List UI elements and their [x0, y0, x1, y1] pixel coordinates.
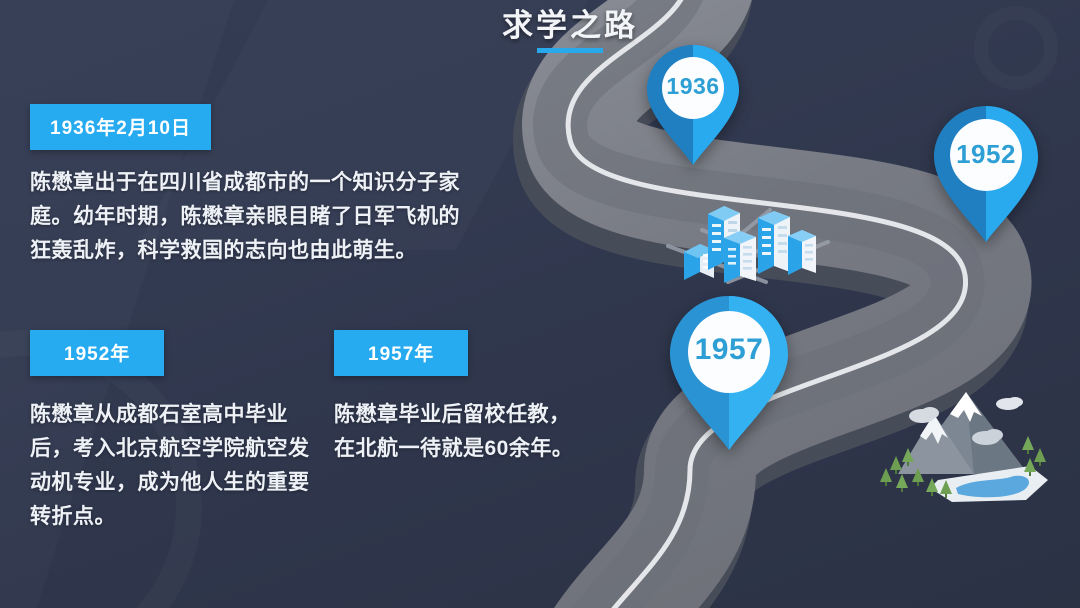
- panel-1936-text: 陈懋章出于在四川省成都市的一个知识分子家庭。幼年时期，陈懋章亲眼目睹了日军飞机的…: [30, 166, 470, 268]
- city-building: [758, 211, 790, 274]
- panel-1952-text: 陈懋章从成都石室高中毕业后，考入北京航空学院航空发动机专业，成为他人生的重要转折…: [30, 398, 320, 534]
- map-pin-year-label: 1957: [668, 333, 790, 367]
- slide-canvas: 求学之路 1936年2月10日 陈懋章出于在四川省成都市的一个知识分子家庭。幼年…: [0, 0, 1080, 608]
- map-pin-1957[interactable]: 1957: [668, 294, 790, 452]
- date-badge-1957: 1957年: [334, 330, 468, 376]
- panel-1952: 1952年 陈懋章从成都石室高中毕业后，考入北京航空学院航空发动机专业，成为他人…: [30, 330, 320, 534]
- city-building: [724, 231, 756, 283]
- map-pin-year-label: 1952: [932, 139, 1040, 170]
- map-pin-1936[interactable]: 1936: [645, 43, 741, 167]
- city-building: [788, 230, 816, 275]
- panel-1957-text: 陈懋章毕业后留校任教，在北航一待就是60余年。: [334, 398, 584, 466]
- date-badge-1952: 1952年: [30, 330, 164, 376]
- date-badge-1936: 1936年2月10日: [30, 104, 211, 150]
- panel-1957: 1957年 陈懋章毕业后留校任教，在北航一待就是60余年。: [334, 330, 584, 466]
- map-pin-1952[interactable]: 1952: [932, 104, 1040, 244]
- page-title: 求学之路: [470, 8, 670, 53]
- title-underline: [537, 48, 603, 53]
- map-pin-icon: [645, 43, 741, 167]
- map-pin-year-label: 1936: [645, 73, 741, 100]
- mountain-lake-illustration: [878, 382, 1058, 508]
- map-pin-icon: [668, 294, 790, 452]
- cloud-icon: [996, 397, 1023, 410]
- city-skyline-illustration: [662, 186, 842, 292]
- panel-1936: 1936年2月10日 陈懋章出于在四川省成都市的一个知识分子家庭。幼年时期，陈懋…: [30, 104, 470, 268]
- page-title-text: 求学之路: [470, 8, 670, 44]
- map-pin-icon: [932, 104, 1040, 244]
